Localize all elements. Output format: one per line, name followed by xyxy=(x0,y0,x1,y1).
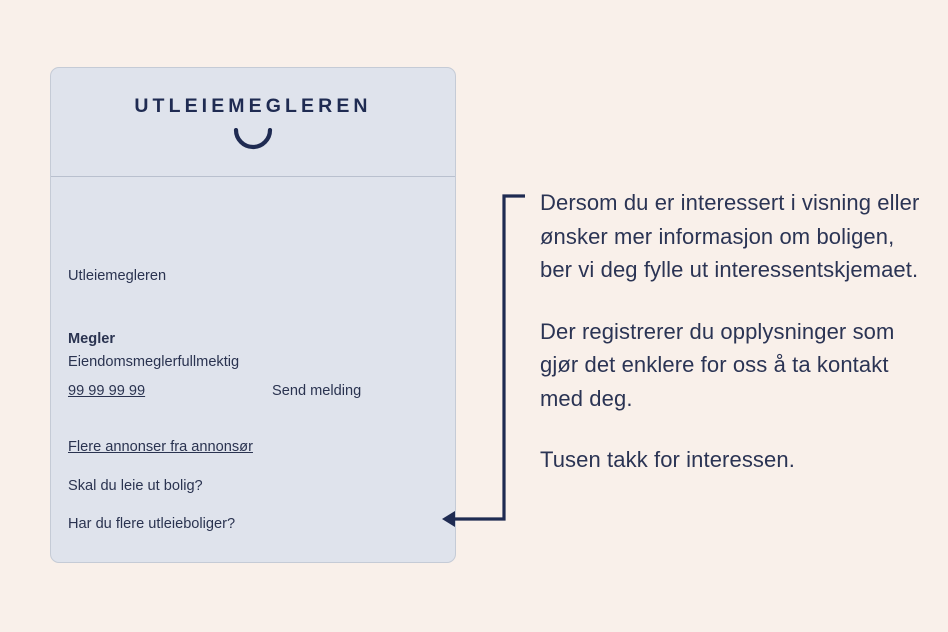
arrow-head-icon xyxy=(442,511,455,527)
phone-link[interactable]: 99 99 99 99 xyxy=(68,382,145,400)
card-body: Utleiemegleren Megler Eiendomsmeglerfull… xyxy=(51,178,455,563)
company-name: Utleiemegleren xyxy=(68,267,166,285)
multiple-homes-link[interactable]: Har du flere utleieboliger? xyxy=(68,515,235,533)
send-message-link[interactable]: Send melding xyxy=(272,382,361,400)
callout-text: Dersom du er interessert i visning eller… xyxy=(540,186,930,477)
callout-paragraph-3: Tusen takk for interessen. xyxy=(540,443,930,477)
rent-out-link[interactable]: Skal du leie ut bolig? xyxy=(68,477,203,495)
screenshot-stage: UTLEIEMEGLEREN Utleiemegleren Megler Eie… xyxy=(0,0,948,632)
smile-arc-icon xyxy=(51,128,455,152)
callout-paragraph-2: Der registrerer du opplysninger som gjør… xyxy=(540,315,930,416)
card-header: UTLEIEMEGLEREN xyxy=(51,68,455,177)
agent-role: Eiendomsmeglerfullmektig xyxy=(68,353,239,371)
advertiser-card: UTLEIEMEGLEREN Utleiemegleren Megler Eie… xyxy=(50,67,456,563)
callout-bracket xyxy=(430,180,540,540)
callout-paragraph-1: Dersom du er interessert i visning eller… xyxy=(540,186,930,287)
brand-wordmark: UTLEIEMEGLEREN xyxy=(51,95,455,118)
more-ads-link[interactable]: Flere annonser fra annonsør xyxy=(68,438,253,456)
agent-heading: Megler xyxy=(68,330,115,348)
